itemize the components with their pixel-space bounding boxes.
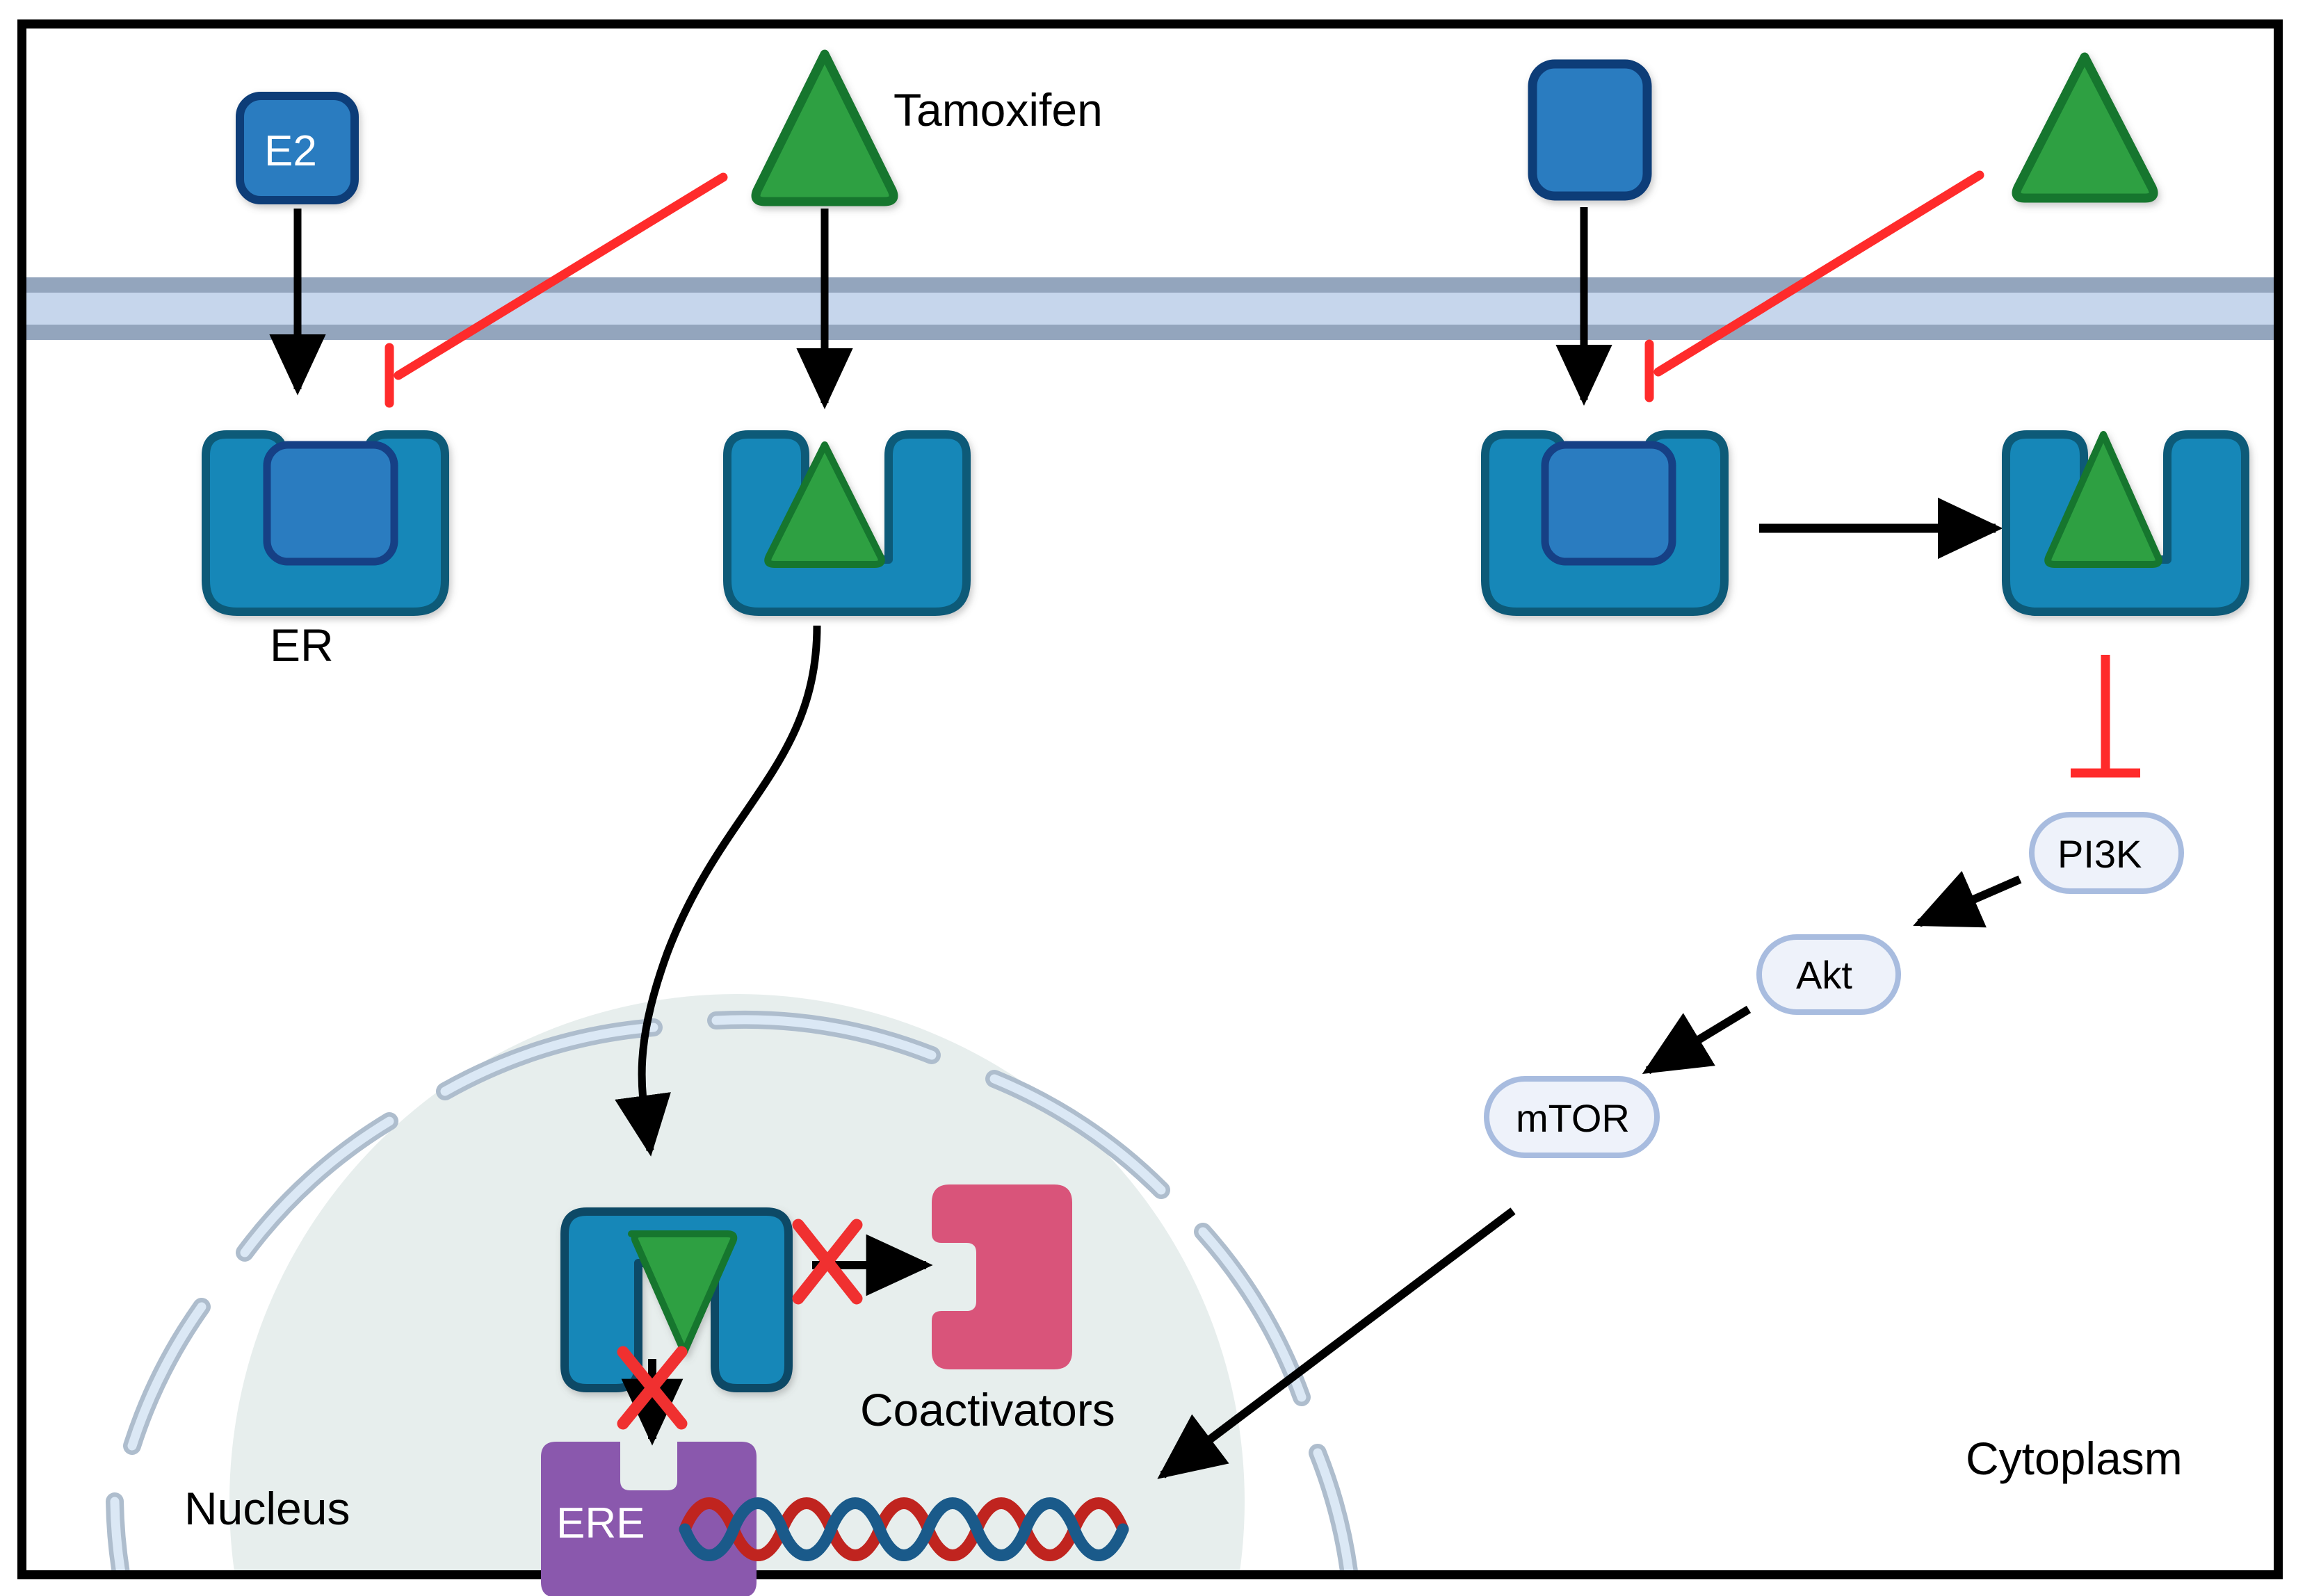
- pi3k-inhibition: [2071, 655, 2140, 773]
- pi3k-to-akt-arrow: [1919, 879, 2020, 923]
- mtor-label: mTOR: [1516, 1096, 1630, 1141]
- coactivators-label: Coactivators: [860, 1383, 1115, 1436]
- tamoxifen-label: Tamoxifen: [893, 83, 1103, 136]
- nucleus-label: Nucleus: [184, 1482, 350, 1535]
- diagram-graphics: [0, 0, 2305, 1596]
- tamoxifen-receptor[interactable]: [727, 434, 967, 612]
- resistant-receptor-e2[interactable]: [1485, 434, 1724, 612]
- e2-label: E2: [264, 127, 317, 176]
- akt-label: Akt: [1796, 952, 1852, 997]
- resistant-ligand[interactable]: [1532, 64, 1647, 196]
- resistant-receptor-tam[interactable]: [2006, 434, 2245, 612]
- resistant-triangle[interactable]: [2016, 57, 2153, 198]
- pi3k-label: PI3K: [2057, 831, 2142, 877]
- akt-to-mtor-arrow: [1648, 1009, 1749, 1070]
- plasma-membrane: [26, 277, 2274, 340]
- e2-receptor[interactable]: [206, 434, 445, 612]
- diagram-canvas: E2 Tamoxifen ER PI3K Akt mTOR Coactivato…: [0, 0, 2305, 1596]
- tamoxifen-ligand[interactable]: [756, 54, 893, 202]
- er-label: ER: [270, 619, 334, 671]
- cytoplasm-label: Cytoplasm: [1966, 1432, 2183, 1485]
- ere-label: ERE: [556, 1499, 645, 1548]
